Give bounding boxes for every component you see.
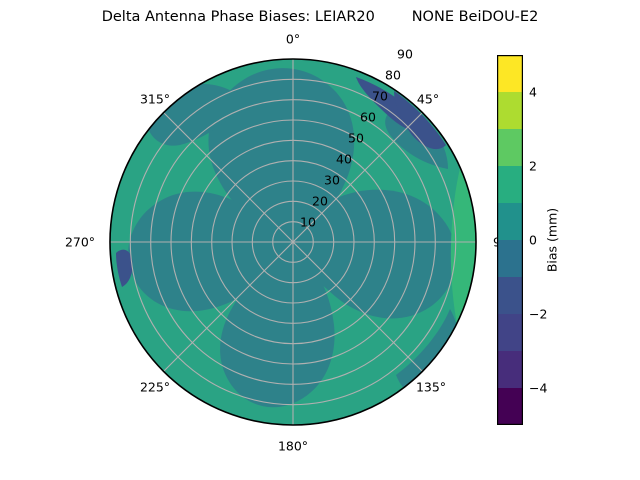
theta-tick-225: 225° bbox=[140, 380, 170, 395]
theta-tick-270: 270° bbox=[65, 235, 95, 250]
colorbar-tick-minus4: −4 bbox=[529, 381, 547, 396]
colorbar-bands bbox=[497, 55, 523, 425]
colorbar-tick-0: 0 bbox=[529, 233, 537, 248]
radial-tick-50: 50 bbox=[348, 131, 364, 146]
colorbar-tick-2: 2 bbox=[529, 159, 537, 174]
radial-tick-70: 70 bbox=[372, 89, 388, 104]
colorbar: 4 2 0 −2 −4 bbox=[497, 55, 523, 425]
theta-tick-45: 45° bbox=[417, 92, 439, 107]
radial-tick-30: 30 bbox=[324, 173, 340, 188]
radial-tick-10: 10 bbox=[300, 215, 316, 230]
matplotlib-figure: Delta Antenna Phase Biases: LEIAR20 NONE… bbox=[0, 0, 640, 480]
angular-gridlines bbox=[110, 59, 476, 425]
radial-tick-20: 20 bbox=[312, 194, 328, 209]
polar-axes: 0° 45° 90 135° 180° 225° 270° 315° 10 20… bbox=[108, 57, 478, 427]
colorbar-svg bbox=[497, 55, 523, 425]
colorbar-axis-label: Bias (mm) bbox=[545, 208, 560, 272]
colorbar-tick-minus2: −2 bbox=[529, 307, 547, 322]
radial-tick-40: 40 bbox=[336, 152, 352, 167]
radial-tick-60: 60 bbox=[360, 110, 376, 125]
theta-tick-135: 135° bbox=[416, 380, 446, 395]
theta-tick-180: 180° bbox=[278, 439, 308, 454]
chart-title: Delta Antenna Phase Biases: LEIAR20 NONE… bbox=[0, 9, 640, 25]
theta-tick-315: 315° bbox=[140, 92, 170, 107]
radial-tick-80: 80 bbox=[385, 68, 401, 83]
radial-tick-90: 90 bbox=[397, 47, 413, 62]
theta-tick-0: 0° bbox=[286, 32, 300, 47]
colorbar-tick-4: 4 bbox=[529, 85, 537, 100]
polar-plot-svg bbox=[108, 57, 478, 427]
